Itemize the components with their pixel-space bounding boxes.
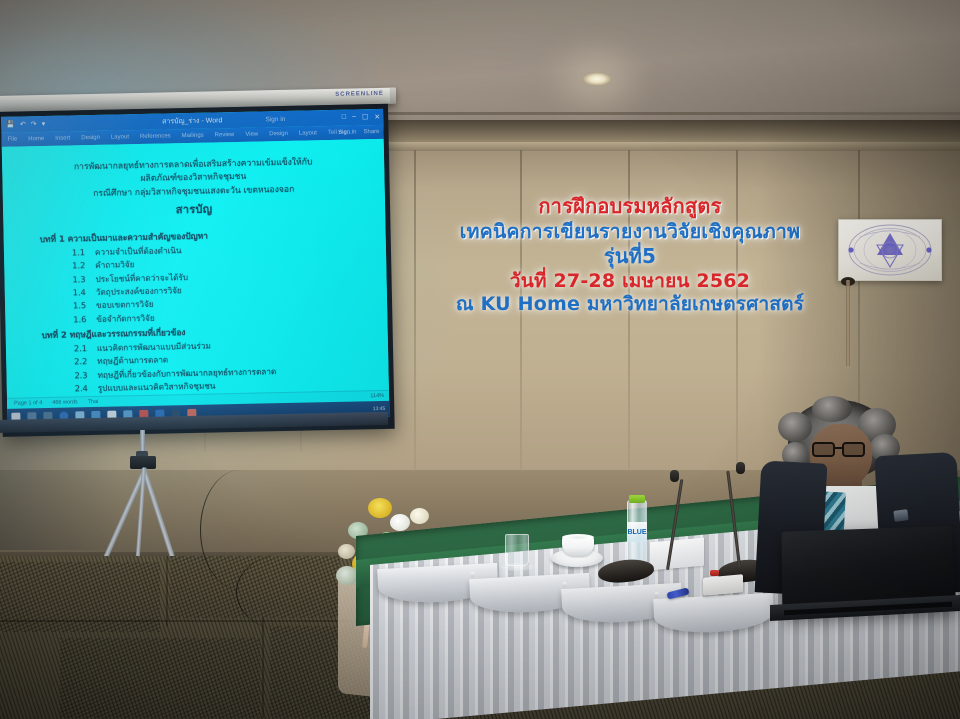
bottle-brand-text: BLUE	[627, 529, 646, 536]
zoom-level[interactable]: 114%	[370, 393, 384, 399]
ribbon-right-actions[interactable]: Sign in Share	[338, 129, 379, 136]
banner-line-date: วันที่ 27-28 เมษายน 2562	[424, 272, 836, 291]
university-emblem-frame	[838, 219, 942, 281]
toc-entry-number: 2.1	[74, 342, 90, 356]
jacket-lapel-badge	[893, 509, 908, 522]
toc-entry-number: 2.3	[74, 369, 90, 383]
status-view-controls[interactable]: 114%	[370, 393, 384, 399]
cream-rose	[338, 544, 355, 559]
word-document-page: การพัฒนากลยุทธ์ทางการตลาดเพื่อเสริมสร้าง…	[2, 139, 389, 409]
presenter-remote[interactable]	[703, 574, 743, 595]
tab-review[interactable]: Review	[215, 132, 235, 138]
toc-entry-text: คำถามวิจัย	[95, 258, 134, 272]
status-word-count[interactable]: 466 words	[52, 399, 78, 406]
conference-room-photo: การฝึกอบรมหลักสูตร เทคนิคการเขียนรายงานว…	[0, 0, 960, 719]
tab-table-design[interactable]: Design	[269, 131, 288, 137]
sign-in-link[interactable]: Sign in	[338, 129, 356, 135]
ceiling-light-fixture	[582, 72, 612, 86]
carpet-tile	[60, 638, 260, 718]
toc-entry-number: 1.1	[72, 246, 88, 260]
carpet-seam	[166, 556, 168, 626]
toc-entry-number: 1.6	[73, 313, 89, 327]
share-button[interactable]: Share	[363, 129, 379, 135]
sunflower-bloom	[368, 498, 392, 518]
toc-entry-text: ข้อจำกัดการวิจัย	[96, 311, 155, 326]
microphone-head	[736, 462, 745, 474]
projected-image: 💾 ↶ ↷ ▾ สารบัญ_ร่าง - Word Sign in □ – ☐…	[1, 109, 389, 425]
kasetsart-seal-icon	[842, 221, 938, 279]
toc-entry-text: วัตถุประสงค์ของการวิจัย	[96, 284, 182, 299]
toc-entry-number: 2.4	[75, 382, 91, 396]
projection-screen: 💾 ↶ ↷ ▾ สารบัญ_ร่าง - Word Sign in □ – ☐…	[0, 104, 395, 437]
toc-entry-number: 1.3	[72, 273, 88, 287]
minimize-icon[interactable]: –	[352, 113, 356, 121]
carpet-tile	[0, 562, 160, 632]
window-controls[interactable]: □ – ☐ ✕	[342, 113, 380, 122]
emblem-stand-pole	[846, 280, 850, 366]
screen-brand-label: SCREENLINE	[335, 91, 384, 98]
remote-red-button[interactable]	[710, 570, 719, 576]
toc-entry-text: ขอบเขตการวิจัย	[96, 298, 154, 313]
eyeglasses-bridge	[835, 447, 842, 449]
skirt-pin	[470, 572, 475, 577]
toc-entry-text: แนวคิดการพัฒนาแบบมีส่วนร่วม	[97, 340, 211, 356]
eyeglasses-left-lens	[812, 442, 835, 457]
coffee-cup-rim	[562, 534, 594, 541]
banner-line-course-title: เทคนิคการเขียนรายงานวิจัยเชิงคุณภาพ	[424, 222, 836, 242]
hair-tuft	[812, 396, 852, 422]
tab-view[interactable]: View	[245, 132, 258, 138]
close-icon[interactable]: ✕	[374, 113, 380, 121]
wall-panel-divider	[414, 150, 416, 480]
hair-tuft	[778, 412, 812, 442]
bottle-cap	[629, 495, 645, 503]
cream-rose	[410, 508, 429, 524]
banner-line-batch: รุ่นที่5	[424, 246, 836, 266]
tab-layout[interactable]: Layout	[111, 134, 129, 140]
restore-icon[interactable]: ☐	[362, 113, 368, 121]
toc-entry-number: 2.2	[74, 356, 90, 370]
green-foliage	[336, 566, 358, 585]
tab-mailings[interactable]: Mailings	[182, 133, 204, 139]
document-title-block: การพัฒนากลยุทธ์ทางการตลาดเพื่อเสริมสร้าง…	[12, 155, 375, 203]
status-page-number[interactable]: Page 1 of 4	[14, 400, 42, 407]
toc-entry-number: 1.5	[73, 299, 89, 313]
paper-sheet	[650, 538, 704, 571]
white-rose	[390, 514, 410, 531]
drinking-glass	[505, 534, 529, 566]
microphone-head	[670, 470, 679, 482]
tab-table-layout[interactable]: Layout	[299, 130, 317, 136]
tab-insert[interactable]: Insert	[55, 135, 70, 141]
toc-entry-number: 1.2	[72, 259, 88, 273]
wall-banner: การฝึกอบรมหลักสูตร เทคนิคการเขียนรายงานว…	[424, 196, 836, 314]
skirt-pin	[654, 592, 659, 597]
toc-entry-number: 1.4	[73, 286, 89, 300]
tab-design[interactable]: Design	[81, 135, 100, 141]
eyeglasses-right-lens	[842, 442, 865, 457]
tab-home[interactable]: Home	[28, 136, 44, 142]
status-language[interactable]: Thai	[88, 399, 99, 405]
toc-entry-text: ความจำเป็นที่ต้องดำเนิน	[95, 244, 182, 259]
skirt-pin	[562, 582, 567, 587]
ribbon-display-options-icon[interactable]: □	[342, 114, 346, 122]
carpet-seam	[262, 618, 264, 718]
tab-file[interactable]: File	[8, 137, 18, 143]
floor-cable	[236, 552, 346, 632]
banner-line-course-label: การฝึกอบรมหลักสูตร	[424, 196, 836, 216]
screen-case-endcap	[390, 88, 396, 104]
tab-references[interactable]: References	[140, 133, 171, 140]
banner-line-venue: ณ KU Home มหาวิทยาลัยเกษตรศาสตร์	[424, 295, 836, 314]
bottle-label: BLUE	[627, 522, 647, 542]
